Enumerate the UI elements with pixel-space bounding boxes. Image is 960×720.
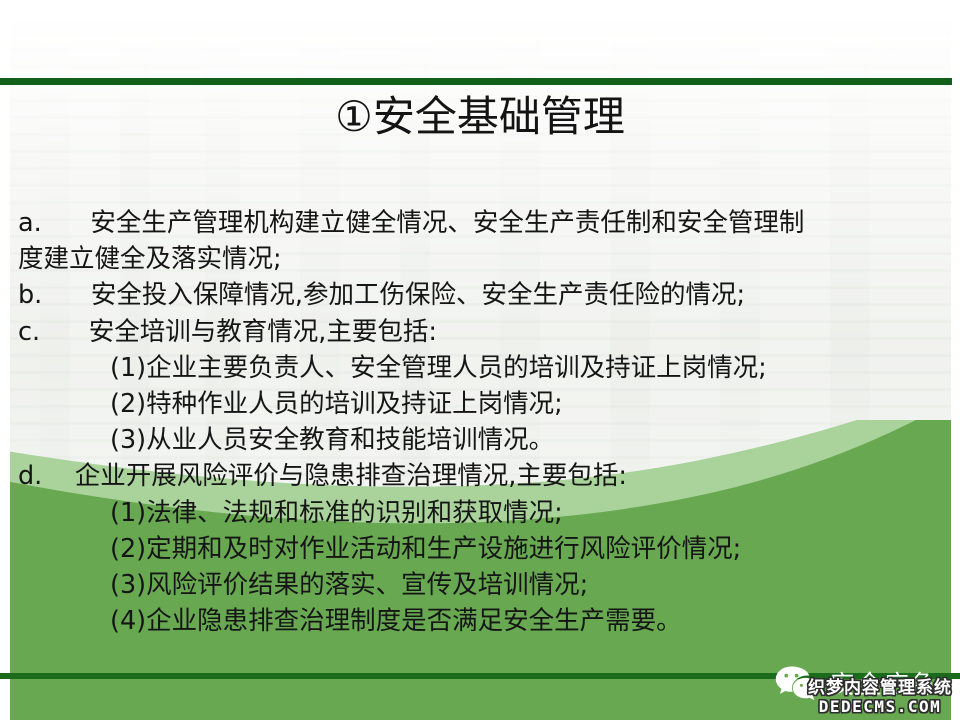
body-line: (2)定期和及时对作业活动和生产设施进行风险评价情况; xyxy=(18,531,948,567)
body-line: (4)企业隐患排查治理制度是否满足安全生产需要。 xyxy=(18,603,948,639)
body-line: (1)企业主要负责人、安全管理人员的培训及持证上岗情况; xyxy=(18,350,948,386)
slide-title: ①安全基础管理 xyxy=(0,96,960,138)
body-line: (3)从业人员安全教育和技能培训情况。 xyxy=(18,422,948,458)
body-line: 度建立健全及落实情况; xyxy=(18,241,948,277)
body-line: (2)特种作业人员的培训及持证上岗情况; xyxy=(18,386,948,422)
wechat-icon xyxy=(774,664,820,702)
header-divider-rule xyxy=(0,78,952,85)
body-line: (1)法律、法规和标准的识别和获取情况; xyxy=(18,495,948,531)
brand-label: 安全应急 xyxy=(830,665,938,701)
body-line: (3)风险评价结果的落实、宣传及培训情况; xyxy=(18,567,948,603)
presentation-slide: ①安全基础管理 a. 安全生产管理机构建立健全情况、安全生产责任制和安全管理制度… xyxy=(0,0,960,720)
slide-margin-top xyxy=(0,0,960,22)
brand-lockup: 安全应急 xyxy=(774,664,938,702)
body-line: a. 安全生产管理机构建立健全情况、安全生产责任制和安全管理制 xyxy=(18,205,948,241)
slide-body-content: a. 安全生产管理机构建立健全情况、安全生产责任制和安全管理制度建立健全及落实情… xyxy=(18,205,948,639)
body-line: b. 安全投入保障情况,参加工伤保险、安全生产责任险的情况; xyxy=(18,277,948,313)
body-line: c. 安全培训与教育情况,主要包括: xyxy=(18,314,948,350)
body-line: d. 企业开展风险评价与隐患排查治理情况,主要包括: xyxy=(18,458,948,494)
